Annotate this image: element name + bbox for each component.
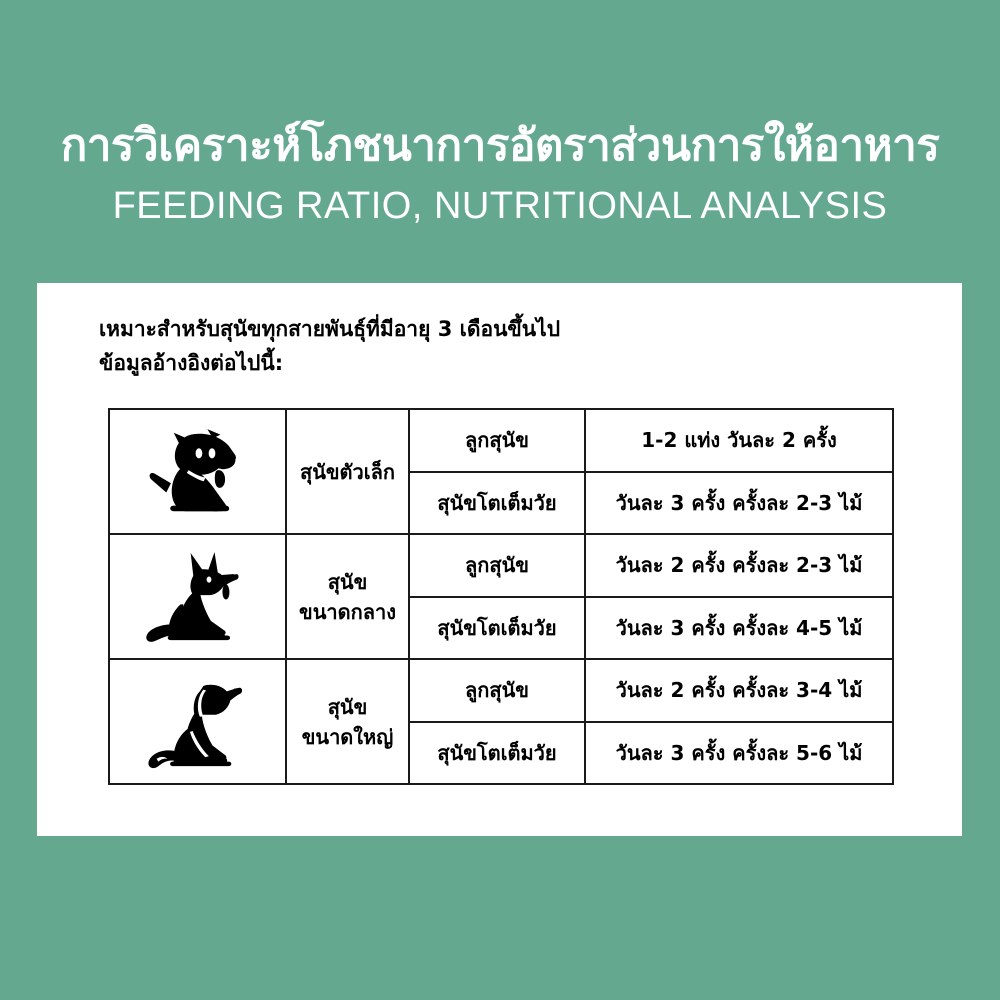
dog-illustration-cell-small: [109, 409, 286, 534]
content-card: เหมาะสำหรับสุนัขทุกสายพันธุ์ที่มีอายุ 3 …: [37, 283, 962, 836]
life-stage-label: ลูกสุนัข: [409, 534, 585, 597]
table-row: สุนัข ขนาดกลาง ลูกสุนัข วันละ 2 ครั้ง คร…: [109, 534, 893, 597]
dog-size-label-medium: สุนัข ขนาดกลาง: [286, 534, 409, 659]
table-row: สุนัขตัวเล็ก ลูกสุนัข 1-2 แท่ง วันละ 2 ค…: [109, 409, 893, 472]
large-dog-icon: [144, 670, 252, 774]
dog-illustration-cell-large: [109, 659, 286, 784]
feeding-amount-value: วันละ 3 ครั้ง ครั้งละ 5-6 ไม้: [585, 722, 893, 785]
dog-size-label-large: สุนัข ขนาดใหญ่: [286, 659, 409, 784]
dog-size-label-small: สุนัขตัวเล็ก: [286, 409, 409, 534]
poster-header: การวิเคราะห์โภชนาการอัตราส่วนการให้อาหาร…: [0, 118, 1000, 228]
life-stage-label: ลูกสุนัข: [409, 409, 585, 472]
page-subtitle-english: FEEDING RATIO, NUTRITIONAL ANALYSIS: [0, 184, 1000, 228]
poster-canvas: การวิเคราะห์โภชนาการอัตราส่วนการให้อาหาร…: [0, 0, 1000, 1000]
small-dog-icon: [142, 425, 254, 519]
size-label-line-2: ขนาดกลาง: [291, 597, 404, 627]
life-stage-label: ลูกสุนัข: [409, 659, 585, 722]
feeding-amount-value: วันละ 3 ครั้ง ครั้งละ 2-3 ไม้: [585, 472, 893, 535]
size-label-line-1: สุนัข: [291, 692, 404, 722]
intro-text-block: เหมาะสำหรับสุนัขทุกสายพันธุ์ที่มีอายุ 3 …: [99, 312, 899, 380]
feeding-amount-value: 1-2 แท่ง วันละ 2 ครั้ง: [585, 409, 893, 472]
life-stage-label: สุนัขโตเต็มวัย: [409, 722, 585, 785]
life-stage-label: สุนัขโตเต็มวัย: [409, 597, 585, 660]
feeding-amount-value: วันละ 2 ครั้ง ครั้งละ 3-4 ไม้: [585, 659, 893, 722]
feeding-amount-value: วันละ 2 ครั้ง ครั้งละ 2-3 ไม้: [585, 534, 893, 597]
size-label-line-1: สุนัข: [291, 567, 404, 597]
table-row: สุนัข ขนาดใหญ่ ลูกสุนัข วันละ 2 ครั้ง คร…: [109, 659, 893, 722]
size-label-line-1: สุนัขตัวเล็ก: [291, 457, 404, 487]
dog-illustration-cell-medium: [109, 534, 286, 659]
size-label-line-2: ขนาดใหญ่: [291, 722, 404, 752]
medium-dog-icon: [143, 547, 253, 647]
intro-line-2: ข้อมูลอ้างอิงต่อไปนี้:: [99, 346, 899, 380]
page-title-thai: การวิเคราะห์โภชนาการอัตราส่วนการให้อาหาร: [0, 118, 1000, 174]
intro-line-1: เหมาะสำหรับสุนัขทุกสายพันธุ์ที่มีอายุ 3 …: [99, 312, 899, 346]
feeding-amount-value: วันละ 3 ครั้ง ครั้งละ 4-5 ไม้: [585, 597, 893, 660]
feeding-ratio-table: สุนัขตัวเล็ก ลูกสุนัข 1-2 แท่ง วันละ 2 ค…: [108, 408, 894, 785]
life-stage-label: สุนัขโตเต็มวัย: [409, 472, 585, 535]
